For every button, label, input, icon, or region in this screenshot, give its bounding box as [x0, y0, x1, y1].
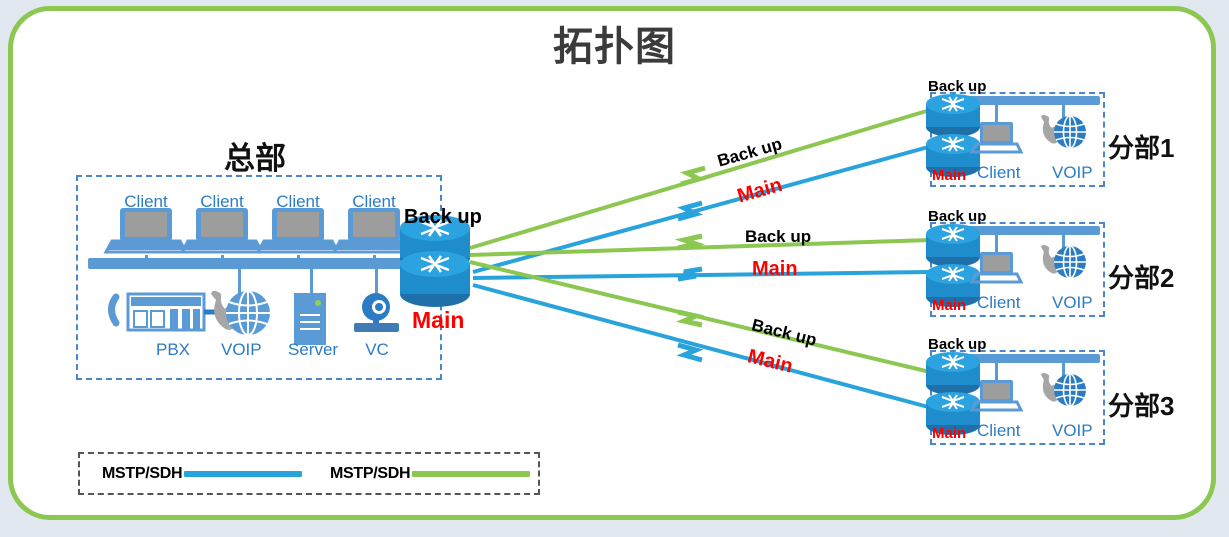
legend-swatch-main	[184, 471, 302, 477]
legend-label-backup: MSTP/SDH	[330, 465, 410, 483]
branch3-client-label: Client	[977, 421, 1019, 440]
router-icon	[926, 352, 980, 395]
branch3-router-backup-label: Back up	[928, 336, 986, 353]
legend-label-main: MSTP/SDH	[102, 465, 182, 483]
legend: MSTP/SDH MSTP/SDH	[78, 452, 540, 495]
branch3-title: 分部3	[1108, 386, 1174, 423]
branch3-router-main-label: Main	[932, 425, 966, 442]
voip-globe-icon	[1041, 373, 1086, 406]
topology-diagram: 拓扑图 总部	[0, 0, 1229, 537]
legend-item-backup: MSTP/SDH	[330, 465, 530, 483]
legend-swatch-backup	[412, 471, 530, 477]
branch3-voip-label: VOIP	[1052, 421, 1088, 440]
legend-item-main: MSTP/SDH	[102, 465, 302, 483]
